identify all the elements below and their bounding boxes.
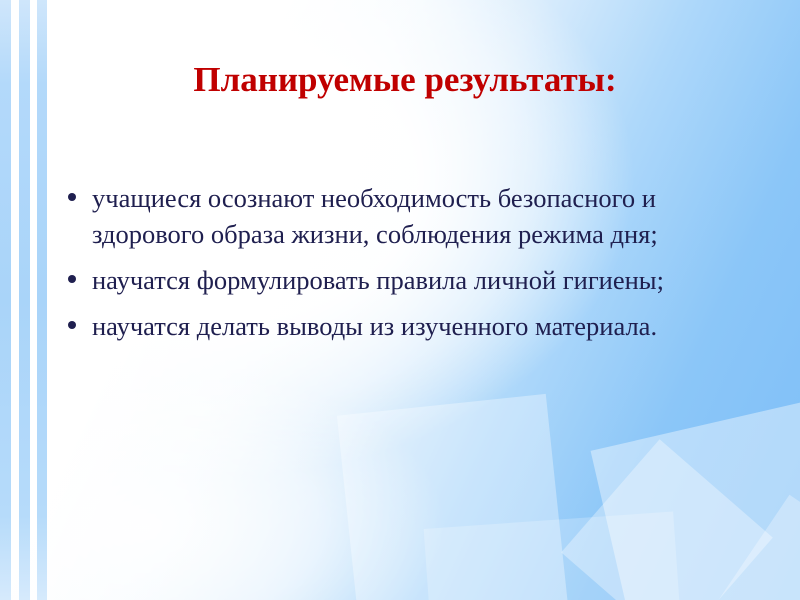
left-edge-stripes [0, 0, 50, 600]
bullet-dot-icon [68, 193, 76, 201]
list-item-text: научатся делать выводы из изученного мат… [92, 308, 742, 344]
stripe-1 [0, 0, 11, 600]
list-item: научатся делать выводы из изученного мат… [62, 308, 752, 344]
list-item: учащиеся осознают необходимость безопасн… [62, 180, 752, 252]
bullet-dot-icon [68, 275, 76, 283]
slide: Планируемые результаты: учащиеся осознаю… [0, 0, 800, 600]
slide-title: Планируемые результаты: [60, 58, 750, 102]
stripe-2 [19, 0, 30, 600]
bullet-list: учащиеся осознают необходимость безопасн… [62, 180, 752, 354]
bullet-dot-icon [68, 321, 76, 329]
list-item-text: учащиеся осознают необходимость безопасн… [92, 180, 692, 252]
list-item: научатся формулировать правила личной ги… [62, 262, 752, 298]
list-item-text: научатся формулировать правила личной ги… [92, 262, 732, 298]
stripe-3 [37, 0, 47, 600]
